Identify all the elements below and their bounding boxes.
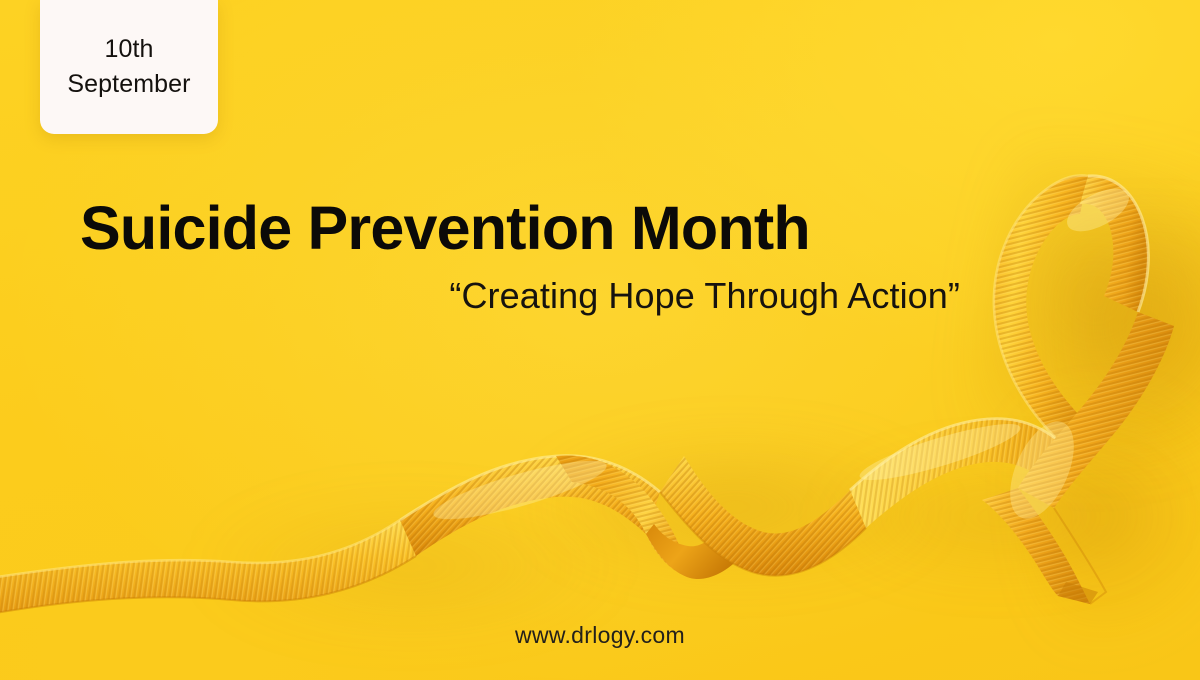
headline-block: Suicide Prevention Month “Creating Hope …	[80, 196, 960, 316]
page-subtitle: “Creating Hope Through Action”	[80, 275, 960, 316]
suicide-prevention-month-poster: 10th September Suicide Prevention Month …	[0, 0, 1200, 680]
date-month-label: September	[67, 69, 190, 100]
date-day-label: 10th	[104, 34, 153, 65]
page-title: Suicide Prevention Month	[80, 196, 960, 261]
website-url: www.drlogy.com	[0, 622, 1200, 649]
date-card: 10th September	[40, 0, 218, 134]
